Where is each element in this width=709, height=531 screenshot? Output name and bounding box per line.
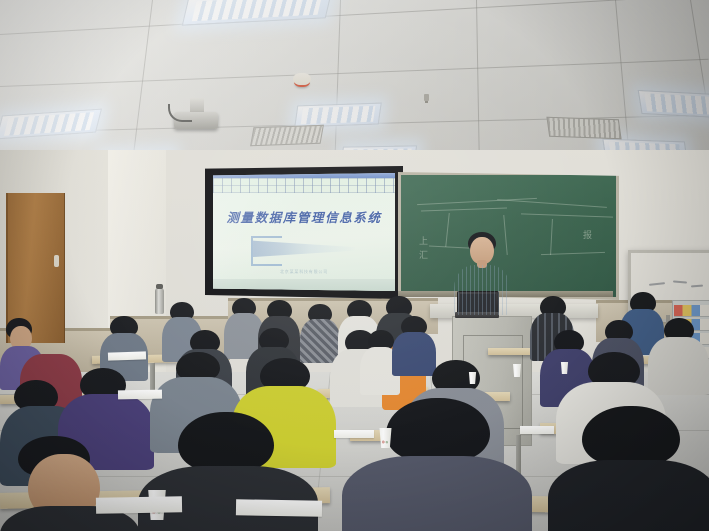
bottle-cap — [156, 284, 163, 289]
audience-member — [342, 398, 532, 531]
classroom-photo: 测量数据库管理信息系统 北京某某科技有限公司 上 汇 报 — [0, 0, 709, 531]
paper-sheet — [236, 499, 322, 516]
paper-sheet — [520, 426, 554, 434]
presenter — [452, 232, 512, 314]
cup-pattern — [380, 440, 391, 444]
torso — [342, 456, 532, 531]
audience-member — [0, 436, 140, 531]
presenter-torso — [454, 265, 510, 315]
audience-member — [548, 406, 709, 531]
hair — [582, 406, 680, 464]
chalk-note: 报 — [583, 231, 592, 241]
chalk-note: 汇 — [419, 251, 428, 261]
projection-screen[interactable]: 测量数据库管理信息系统 北京某某科技有限公司 — [213, 173, 395, 291]
hair — [386, 398, 490, 460]
chalk-note: 上 — [419, 237, 428, 247]
paper-sheet — [108, 351, 146, 360]
torso — [548, 460, 709, 531]
paper-sheet — [334, 430, 374, 438]
hair — [588, 352, 640, 386]
thermos-bottle — [155, 288, 164, 314]
paper-sheet — [118, 390, 162, 400]
paper-sheet — [96, 496, 182, 513]
screen-glare — [213, 173, 395, 291]
hair — [178, 412, 274, 470]
hair — [176, 352, 220, 380]
door-knob[interactable] — [54, 255, 59, 267]
